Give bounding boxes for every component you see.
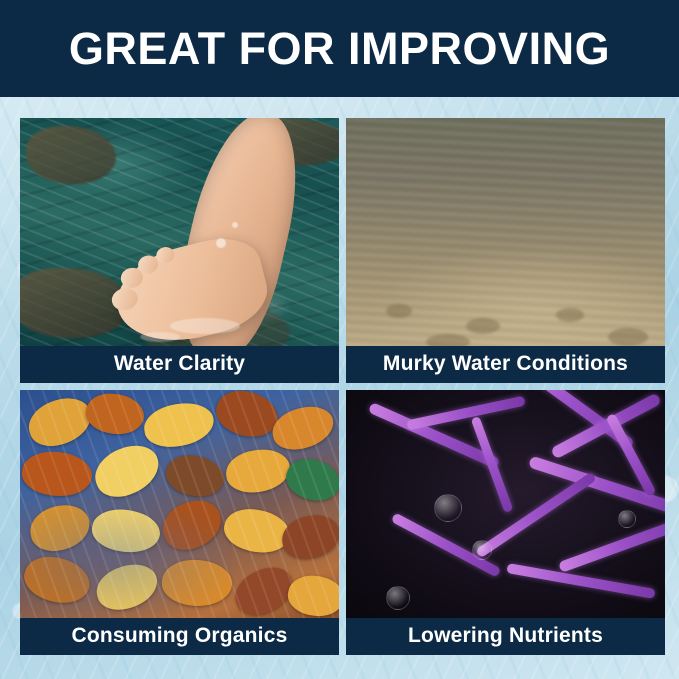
cyanobacteria-filament — [475, 472, 597, 559]
card-caption: Consuming Organics — [20, 618, 339, 655]
pebble-shape — [556, 308, 584, 322]
poster: GREAT FOR IMPROVING — [0, 0, 679, 679]
feature-grid: Water Clarity Murky Water Conditions — [20, 118, 659, 660]
pebble-shape — [426, 334, 470, 346]
bubble-shape — [386, 586, 410, 610]
water-clarity-photo — [20, 118, 339, 346]
page-title: GREAT FOR IMPROVING — [69, 23, 610, 75]
splash-shape — [232, 222, 238, 228]
cyanobacteria-filament — [506, 563, 655, 599]
murky-water-photo — [346, 118, 665, 346]
card-murky-water-conditions: Murky Water Conditions — [346, 118, 665, 383]
pebble-shape — [608, 328, 648, 346]
lowering-nutrients-photo — [346, 390, 665, 618]
bubble-shape — [434, 494, 462, 522]
bubble-shape — [472, 540, 492, 560]
pebble-shape — [386, 304, 412, 318]
card-consuming-organics: Consuming Organics — [20, 390, 339, 655]
splash-shape — [170, 318, 240, 334]
cyanobacteria-filament — [558, 518, 665, 573]
cyanobacteria-filament — [471, 416, 514, 513]
splash-shape — [216, 238, 226, 248]
cyanobacteria-filament — [406, 396, 525, 431]
card-caption: Lowering Nutrients — [346, 618, 665, 655]
card-caption: Murky Water Conditions — [346, 346, 665, 383]
pebble-shape — [466, 318, 500, 334]
card-lowering-nutrients: Lowering Nutrients — [346, 390, 665, 655]
card-caption: Water Clarity — [20, 346, 339, 383]
bubble-shape — [618, 510, 636, 528]
splash-shape — [140, 332, 180, 342]
water-sheen-overlay — [20, 390, 339, 618]
card-water-clarity: Water Clarity — [20, 118, 339, 383]
consuming-organics-photo — [20, 390, 339, 618]
header-banner: GREAT FOR IMPROVING — [0, 0, 679, 97]
